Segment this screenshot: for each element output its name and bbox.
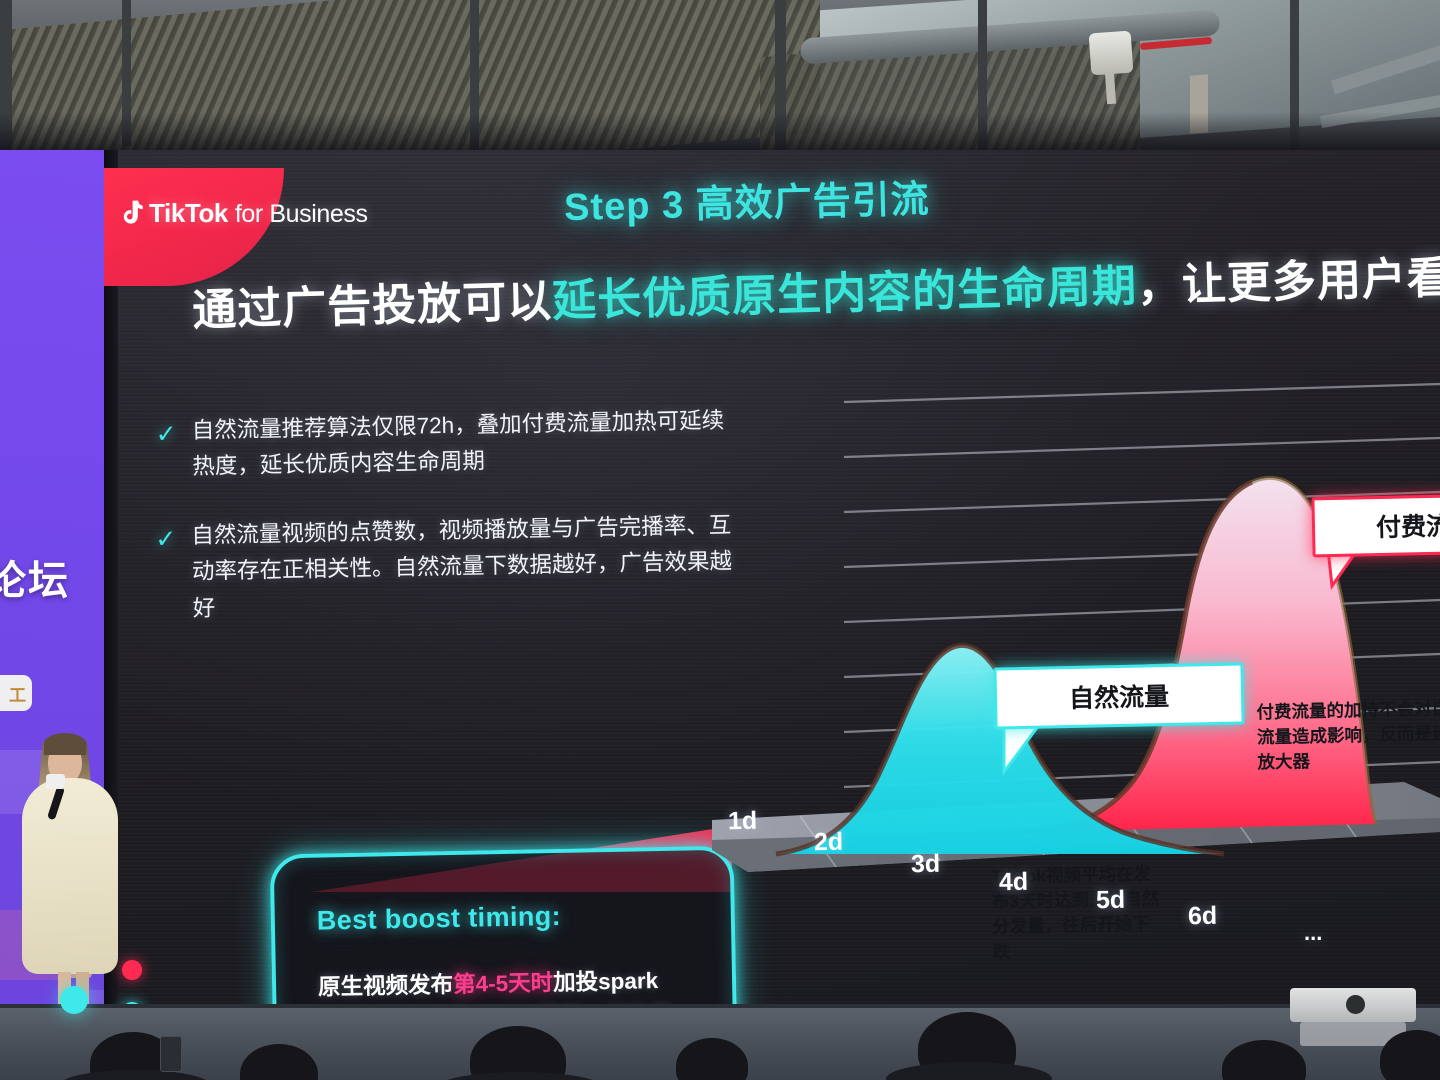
tiktok-note-icon — [118, 199, 144, 229]
headline-highlight: 延长优质原生内容的生命周期 — [552, 262, 1138, 326]
audience-phone — [160, 1036, 182, 1072]
x-axis-tick-2d: 2d — [814, 828, 844, 858]
bullet-item: ✓ 自然流量推荐算法仅限72h，叠加付费流量加热可延续热度，延长优质内容生命周期 — [155, 402, 734, 486]
venue-ceiling — [0, 0, 1440, 162]
stage-light — [60, 986, 88, 1014]
speaker-hair-top — [44, 733, 86, 755]
x-axis-tick-6d: 6d — [1188, 902, 1218, 932]
side-panel-chip: 工 — [0, 675, 32, 711]
stage-monitor-device — [1290, 988, 1416, 1022]
paid-traffic-label: 付费流量 — [1311, 493, 1440, 558]
tiktok-logo: TikTok for Business — [118, 198, 368, 229]
check-icon: ✓ — [155, 519, 177, 560]
x-axis-tick-1d: 1d — [728, 807, 758, 837]
ceiling-sensor-box — [1089, 31, 1134, 76]
photo-of-conference-stage: 论坛 工 TikTok for Business Step 3 高效广告引流 通… — [0, 0, 1440, 1080]
bullet-list: ✓ 自然流量推荐算法仅限72h，叠加付费流量加热可延续热度，延长优质内容生命周期… — [156, 408, 734, 654]
x-axis-tick-ellipsis: ... — [1304, 920, 1322, 946]
bullet-item: ✓ 自然流量视频的点赞数，视频播放量与广告完播率、互动率存在正相关性。自然流量下… — [155, 507, 735, 627]
slide-headline: 通过广告投放可以延长优质原生内容的生命周期，让更多用户看见 — [191, 242, 1440, 339]
organic-traffic-label: 自然流量 — [993, 662, 1244, 729]
microphone-flag — [46, 774, 65, 789]
check-icon: ✓ — [155, 414, 177, 455]
x-axis-tick-5d: 5d — [1096, 886, 1126, 916]
headline-lead: 通过广告投放可以 — [192, 277, 553, 335]
side-panel-title: 论坛 — [0, 548, 96, 606]
monitor-lens-icon — [1346, 995, 1365, 1014]
x-axis-tick-3d: 3d — [911, 850, 941, 880]
paid-traffic-annotation: 付费流量的加持不会对自然流量造成影响，反而是延长放大器 — [1256, 696, 1440, 775]
brand-name: TikTok for Business — [149, 198, 368, 229]
step-title: Step 3 高效广告引流 — [563, 168, 930, 231]
headline-tail: ，让更多用户看见 — [1136, 252, 1440, 310]
traffic-lifecycle-chart: 自然流量 付费流量 付费流量的加持不会对自然流量造成影响，反而是延长放大器 Ti… — [704, 380, 1440, 1020]
x-axis-tick-4d: 4d — [999, 868, 1029, 898]
bullet-text: 自然流量推荐算法仅限72h，叠加付费流量加热可延续热度，延长优质内容生命周期 — [191, 408, 724, 480]
speaker-coat — [22, 778, 118, 974]
callout-title: Best boost timing: — [317, 901, 562, 937]
presentation-slide: TikTok for Business Step 3 高效广告引流 通过广告投放… — [104, 150, 1440, 1030]
bullet-text: 自然流量视频的点赞数，视频播放量与广告完播率、互动率存在正相关性。自然流量下数据… — [191, 512, 732, 620]
callout-body-before: 原生视频发布 — [318, 972, 453, 1000]
callout-body-highlight: 第4-5天时 — [453, 970, 553, 997]
